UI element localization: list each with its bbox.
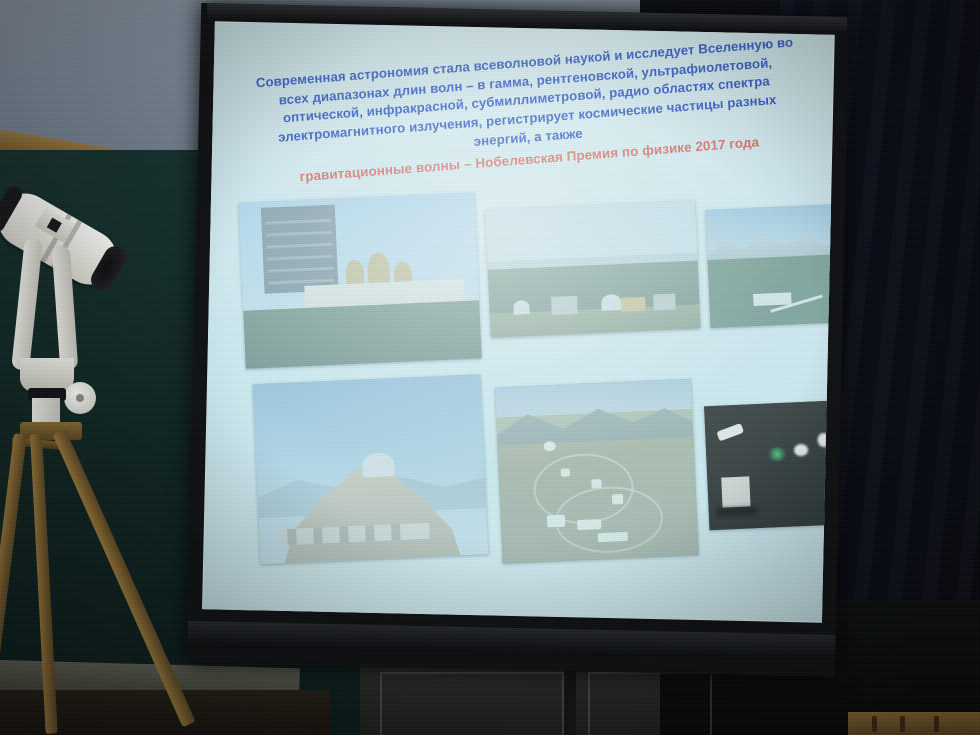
telescope <box>0 176 234 735</box>
telescope-adjust-knob[interactable] <box>64 382 96 414</box>
slide-photo-mountain-observatory <box>705 204 834 328</box>
slide-photo-rocky-peak-observatory <box>253 374 489 564</box>
telescope-fork-base <box>20 358 74 392</box>
telescope-fork-left <box>11 237 43 370</box>
screen-surface: Современная астрономия стала всеволновой… <box>202 21 835 622</box>
tripod-leg <box>0 433 27 732</box>
tripod-leg <box>30 434 58 734</box>
slide-text-block: Современная астрономия стала всеволновой… <box>247 33 807 190</box>
tripod-leg <box>53 429 196 727</box>
slide-photo-university-building <box>239 192 482 368</box>
slide-photo-aerial-observatory-complex <box>495 379 699 564</box>
wooden-ledge <box>848 712 980 735</box>
presentation-slide: Современная астрономия стала всеволновой… <box>203 22 834 621</box>
projection-screen: Современная астрономия стала всеволновой… <box>187 3 849 677</box>
door-panel-right <box>588 672 712 735</box>
photo-scene: Современная астрономия стала всеволновой… <box>0 0 980 735</box>
slide-photo-grid <box>239 178 821 583</box>
slide-photo-observatory-domes <box>485 201 700 338</box>
slide-photo-night-sky <box>704 400 835 530</box>
door-panel-left <box>380 672 564 735</box>
